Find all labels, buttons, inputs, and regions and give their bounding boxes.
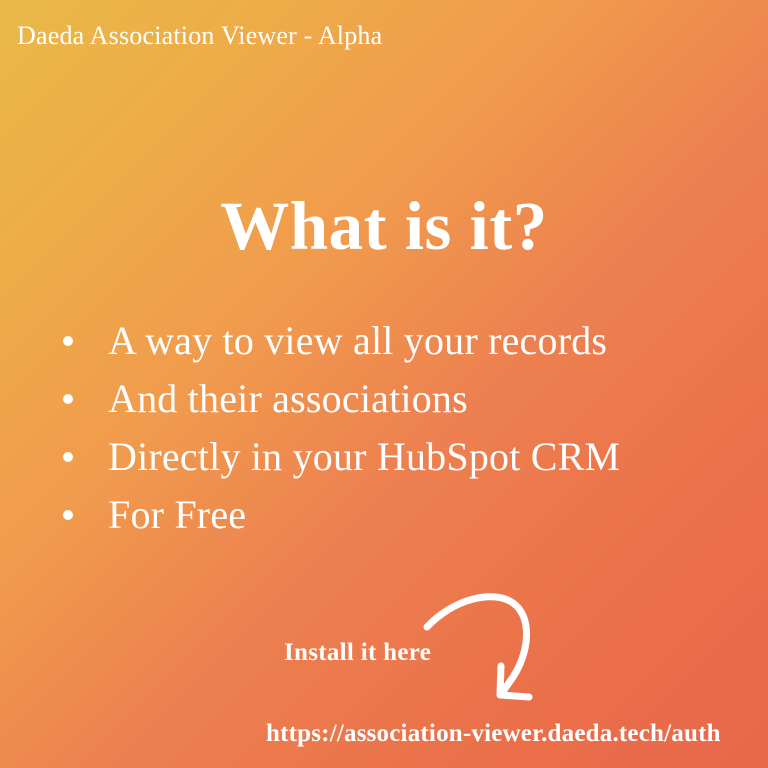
promo-slide: Daeda Association Viewer - Alpha What is… [0, 0, 768, 768]
list-item-label: And their associations [108, 376, 468, 422]
list-item-label: Directly in your HubSpot CRM [108, 434, 620, 480]
bullet-dot-icon [63, 394, 73, 404]
bullet-dot-icon [63, 452, 73, 462]
app-title: Daeda Association Viewer - Alpha [17, 20, 382, 52]
page-title: What is it? [0, 186, 768, 266]
cta-label: Install it here [284, 637, 431, 669]
list-item-label: For Free [108, 492, 246, 538]
bullet-dot-icon [63, 336, 73, 346]
feature-bullet-list: A way to view all your records And their… [58, 312, 748, 544]
cta-url[interactable]: https://association-viewer.daeda.tech/au… [266, 718, 721, 750]
list-item: And their associations [58, 370, 748, 428]
bullet-dot-icon [63, 510, 73, 520]
list-item: Directly in your HubSpot CRM [58, 428, 748, 486]
list-item: For Free [58, 486, 748, 544]
list-item: A way to view all your records [58, 312, 748, 370]
list-item-label: A way to view all your records [108, 318, 607, 364]
